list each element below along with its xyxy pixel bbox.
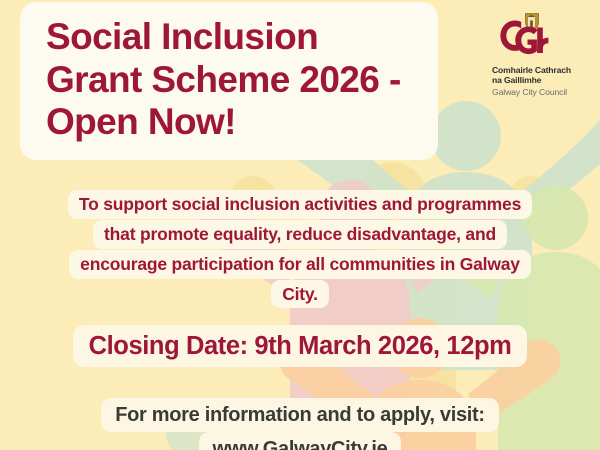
poster-title: Social Inclusion Grant Scheme 2026 - Ope… bbox=[20, 2, 438, 160]
body-line-4: City. bbox=[271, 280, 329, 309]
footer-line-1: For more information and to apply, visit… bbox=[101, 398, 499, 432]
title-line-3: Open Now! bbox=[46, 101, 420, 144]
title-line-2: Grant Scheme 2026 - bbox=[46, 59, 420, 102]
title-line-1: Social Inclusion bbox=[46, 16, 420, 59]
body-line-1: To support social inclusion activities a… bbox=[68, 190, 532, 219]
galway-city-council-g-monogram bbox=[494, 12, 556, 62]
logo-english-name: Galway City Council bbox=[492, 87, 594, 97]
logo-irish-line-2: na Gaillimhe bbox=[492, 75, 594, 85]
poster-body-text: To support social inclusion activities a… bbox=[0, 190, 600, 309]
logo-irish-line-1: Comhairle Cathrach bbox=[492, 65, 594, 75]
body-line-2: that promote equality, reduce disadvanta… bbox=[93, 220, 507, 249]
closing-date-text: Closing Date: 9th March 2026, 12pm bbox=[73, 325, 528, 367]
closing-date: Closing Date: 9th March 2026, 12pm bbox=[0, 325, 600, 367]
footer-website-url[interactable]: www.GalwayCity.ie bbox=[199, 432, 402, 450]
poster-footer: For more information and to apply, visit… bbox=[0, 398, 600, 450]
poster-canvas: Social Inclusion Grant Scheme 2026 - Ope… bbox=[0, 0, 600, 450]
body-line-3: encourage participation for all communit… bbox=[69, 250, 531, 279]
galway-city-council-logo: Comhairle Cathrach na Gaillimhe Galway C… bbox=[492, 12, 594, 97]
